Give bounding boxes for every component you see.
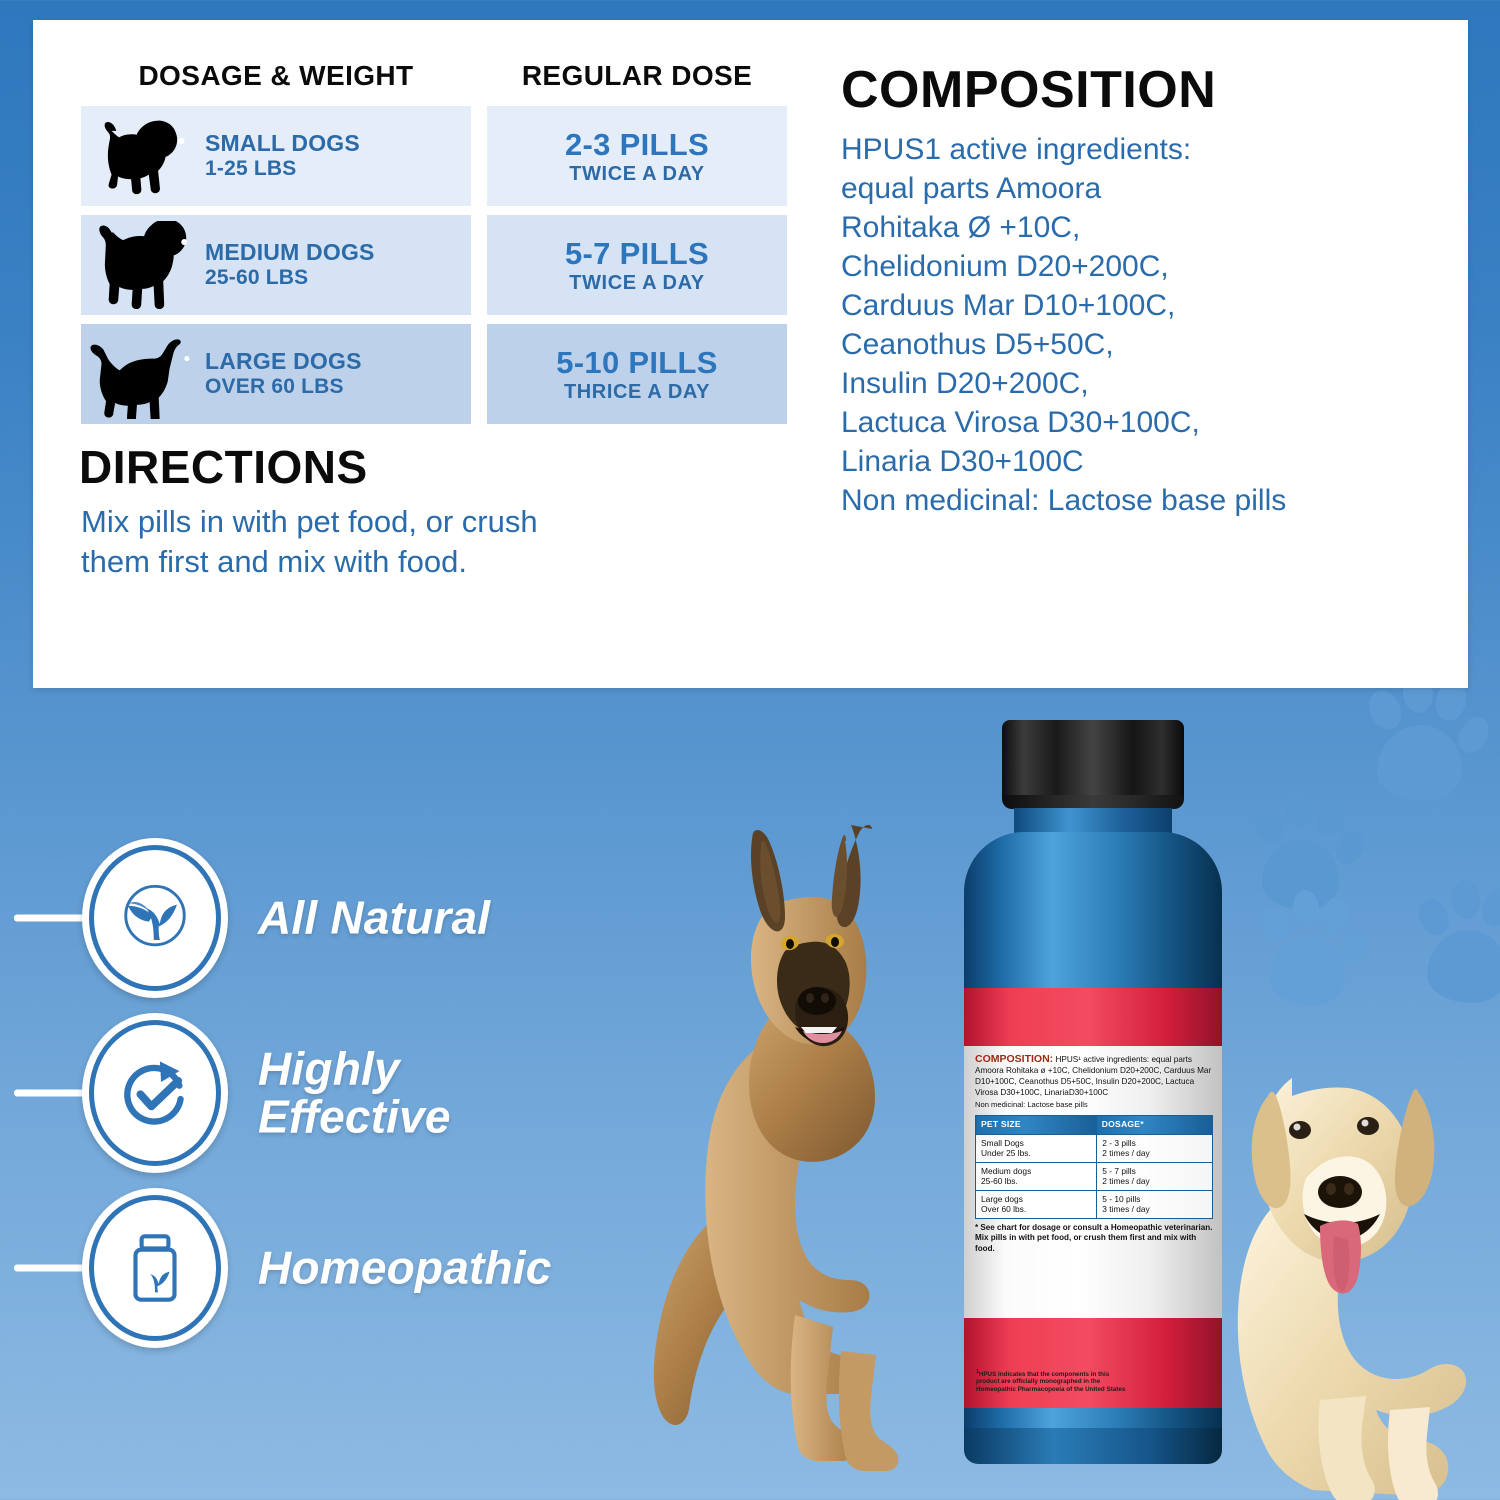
composition-line: Chelidonium D20+200C,	[841, 247, 1500, 286]
dosage-line-2: 2 times / day	[1102, 1148, 1149, 1158]
label-non-medicinal: Non medicinal: Lactose base pills	[975, 1100, 1213, 1110]
feature-homeopathic[interactable]: Homeopathic	[0, 1180, 700, 1355]
column-header-pet-size: PET SIZE	[976, 1116, 1097, 1135]
regular-dose-header: REGULAR DOSE	[487, 60, 787, 92]
dosage-table-headers: DOSAGE & WEIGHT REGULAR DOSE	[81, 60, 821, 92]
label-dosage-table: PET SIZE DOSAGE* Small Dogs Under 25 lbs…	[975, 1115, 1213, 1219]
hpus-line-1: HPUS Indicates that the components in th…	[979, 1371, 1110, 1378]
feature-label-line: All Natural	[258, 893, 490, 942]
dosage-weight-header: DOSAGE & WEIGHT	[81, 60, 471, 92]
composition-line: Non medicinal: Lactose base pills	[841, 481, 1500, 520]
cell-pet-size: Small Dogs Under 25 lbs.	[976, 1134, 1097, 1162]
size-line-1: LARGE DOGS	[205, 349, 362, 375]
leaf-sprout-icon	[116, 879, 194, 957]
size-line-2: 25-60 LBS	[205, 266, 375, 290]
label-footnote: * See chart for dosage or consult a Home…	[975, 1223, 1213, 1255]
table-header-row: PET SIZE DOSAGE*	[976, 1116, 1213, 1135]
directions-line-2: them first and mix with food.	[81, 542, 821, 582]
dog-size-label: SMALL DOGS 1-25 LBS	[205, 131, 360, 180]
golden-retriever-puppy-photo	[1200, 1000, 1500, 1500]
size-line-1: SMALL DOGS	[205, 131, 360, 157]
label-hpus-note: 1HPUS Indicates that the components in t…	[976, 1369, 1212, 1394]
product-photo: COMPOSITION: HPUS¹ active ingredients: e…	[620, 700, 1500, 1500]
feature-label-line: Homeopathic	[258, 1243, 552, 1292]
dosage-amount-cell: 2-3 PILLS TWICE A DAY	[487, 106, 787, 206]
directions-title: DIRECTIONS	[79, 440, 821, 494]
feature-label: Highly Effective	[258, 1044, 451, 1142]
feature-label-line: Highly	[258, 1044, 451, 1093]
composition-text: HPUS1 active ingredients: equal parts Am…	[841, 130, 1500, 520]
composition-line: equal parts Amoora	[841, 169, 1500, 208]
composition-line: Lactuca Virosa D30+100C,	[841, 403, 1500, 442]
table-row: Large dogs Over 60 lbs. 5 - 10 pills 3 t…	[976, 1190, 1213, 1218]
dosage-line-1: 5 - 10 pills	[1102, 1194, 1140, 1204]
table-row: LARGE DOGS OVER 60 LBS 5-10 PILLS THRICE…	[81, 324, 821, 424]
cell-dosage: 2 - 3 pills 2 times / day	[1097, 1134, 1213, 1162]
bottle-label: COMPOSITION: HPUS¹ active ingredients: e…	[964, 988, 1222, 1408]
supplement-bottle-icon	[116, 1229, 194, 1307]
label-red-band-bottom	[964, 1318, 1222, 1408]
dosage-line-2: 2 times / day	[1102, 1176, 1149, 1186]
feature-badge[interactable]	[82, 1013, 228, 1173]
dosage-line-1: 2 - 3 pills	[1102, 1138, 1136, 1148]
column-header-dosage: DOSAGE*	[1097, 1116, 1213, 1135]
table-row: MEDIUM DOGS 25-60 LBS 5-7 PILLS TWICE A …	[81, 215, 821, 315]
dosage-line-1: 5 - 7 pills	[1102, 1166, 1136, 1176]
info-panel: DOSAGE & WEIGHT REGULAR DOSE S	[33, 20, 1468, 688]
composition-line: Ceanothus D5+50C,	[841, 325, 1500, 364]
directions-text: Mix pills in with pet food, or crush the…	[81, 502, 821, 581]
table-row: Small Dogs Under 25 lbs. 2 - 3 pills 2 t…	[976, 1134, 1213, 1162]
feature-list: All Natural Highly Effective Homeopa	[0, 830, 700, 1355]
feature-label: All Natural	[258, 893, 490, 942]
composition-line: HPUS1 active ingredients:	[841, 130, 1500, 169]
bottle-base	[964, 1428, 1222, 1464]
pet-size-line-2: Under 25 lbs.	[981, 1148, 1031, 1158]
composition-title: COMPOSITION	[841, 60, 1500, 120]
dosage-size-cell: LARGE DOGS OVER 60 LBS	[81, 324, 471, 424]
product-bottle: COMPOSITION: HPUS¹ active ingredients: e…	[950, 720, 1240, 1460]
feature-label-line: Effective	[258, 1093, 451, 1142]
feature-all-natural[interactable]: All Natural	[0, 830, 700, 1005]
large-dog-icon	[87, 333, 205, 415]
table-row: SMALL DOGS 1-25 LBS 2-3 PILLS TWICE A DA…	[81, 106, 821, 206]
size-line-1: MEDIUM DOGS	[205, 240, 375, 266]
composition-section: COMPOSITION HPUS1 active ingredients: eq…	[841, 60, 1500, 520]
hpus-line-2: product are officially monographed in th…	[976, 1378, 1100, 1385]
label-composition-block: COMPOSITION: HPUS¹ active ingredients: e…	[975, 1052, 1213, 1254]
bottle-cap	[1002, 720, 1184, 802]
directions-line-1: Mix pills in with pet food, or crush	[81, 502, 821, 542]
dose-frequency: THRICE A DAY	[564, 381, 710, 404]
pet-size-line-2: 25-60 lbs.	[981, 1176, 1018, 1186]
dosage-table: SMALL DOGS 1-25 LBS 2-3 PILLS TWICE A DA…	[81, 106, 821, 424]
medium-dog-icon	[87, 224, 205, 306]
dose-amount: 2-3 PILLS	[565, 127, 709, 163]
size-line-2: OVER 60 LBS	[205, 375, 362, 399]
composition-line: Rohitaka Ø +10C,	[841, 208, 1500, 247]
label-red-band-top	[964, 988, 1222, 1046]
dose-amount: 5-7 PILLS	[565, 236, 709, 272]
table-row: Medium dogs 25-60 lbs. 5 - 7 pills 2 tim…	[976, 1162, 1213, 1190]
cell-pet-size: Large dogs Over 60 lbs.	[976, 1190, 1097, 1218]
check-refresh-icon	[116, 1054, 194, 1132]
pet-size-line-2: Over 60 lbs.	[981, 1204, 1026, 1214]
dose-amount: 5-10 PILLS	[556, 345, 718, 381]
composition-line: Insulin D20+200C,	[841, 364, 1500, 403]
composition-line: Linaria D30+100C	[841, 442, 1500, 481]
cell-pet-size: Medium dogs 25-60 lbs.	[976, 1162, 1097, 1190]
dosage-size-cell: SMALL DOGS 1-25 LBS	[81, 106, 471, 206]
dosage-size-cell: MEDIUM DOGS 25-60 LBS	[81, 215, 471, 315]
dog-size-label: MEDIUM DOGS 25-60 LBS	[205, 240, 375, 289]
feature-highly-effective[interactable]: Highly Effective	[0, 1005, 700, 1180]
feature-badge[interactable]	[82, 1188, 228, 1348]
hpus-line-3: Homeopathic Pharmacopoeia of the United …	[976, 1386, 1125, 1393]
pet-size-line-1: Medium dogs	[981, 1166, 1031, 1176]
label-composition-heading: COMPOSITION:	[975, 1053, 1053, 1065]
pet-size-line-1: Small Dogs	[981, 1138, 1024, 1148]
dose-frequency: TWICE A DAY	[569, 272, 705, 295]
dosage-line-2: 3 times / day	[1102, 1204, 1149, 1214]
small-dog-icon	[87, 115, 205, 197]
dose-frequency: TWICE A DAY	[569, 163, 705, 186]
pet-size-line-1: Large dogs	[981, 1194, 1023, 1204]
cell-dosage: 5 - 10 pills 3 times / day	[1097, 1190, 1213, 1218]
dosage-weight-section: DOSAGE & WEIGHT REGULAR DOSE S	[81, 60, 821, 581]
size-line-2: 1-25 LBS	[205, 157, 360, 181]
directions-section: DIRECTIONS Mix pills in with pet food, o…	[81, 440, 821, 581]
cell-dosage: 5 - 7 pills 2 times / day	[1097, 1162, 1213, 1190]
dosage-amount-cell: 5-7 PILLS TWICE A DAY	[487, 215, 787, 315]
dog-size-label: LARGE DOGS OVER 60 LBS	[205, 349, 362, 398]
composition-line: Carduus Mar D10+100C,	[841, 286, 1500, 325]
feature-label: Homeopathic	[258, 1243, 552, 1292]
dosage-amount-cell: 5-10 PILLS THRICE A DAY	[487, 324, 787, 424]
feature-badge[interactable]	[82, 838, 228, 998]
